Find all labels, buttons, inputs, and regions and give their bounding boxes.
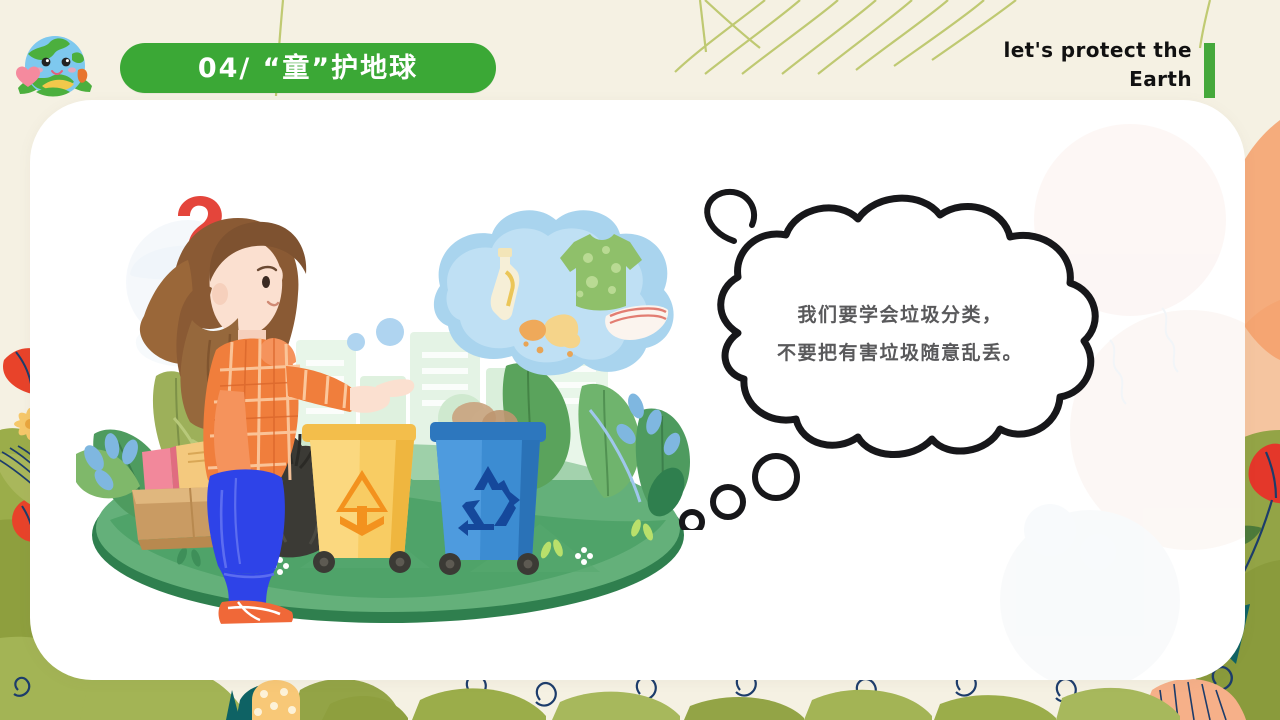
section-title-pill[interactable]: 04/ “童”护地球: [120, 43, 496, 93]
bubble-message: 我们要学会垃圾分类， 不要把有害垃圾随意乱丢。: [740, 296, 1060, 372]
bubble-line-1: 我们要学会垃圾分类，: [740, 296, 1060, 334]
blue-recycle-bin: [430, 422, 546, 575]
thought-dots: [347, 318, 404, 351]
thought-cloud-icon: [434, 210, 674, 375]
slide-canvas: 04/ “童”护地球 let's protect the Earth: [0, 0, 1280, 720]
girl-sorting-trash-illustration: [70, 190, 690, 630]
subtitle-line-2: Earth: [862, 65, 1192, 94]
subtitle-accent-bar: [1204, 43, 1215, 98]
bubble-trail-circles: [682, 456, 797, 530]
earth-mascot-icon: [12, 26, 98, 110]
bubble-line-2: 不要把有害垃圾随意乱丢。: [740, 334, 1060, 372]
subtitle-en: let's protect the Earth: [862, 36, 1192, 94]
bubble-curl: [707, 192, 754, 241]
subtitle-line-1: let's protect the: [862, 36, 1192, 65]
section-title-text: 04/ “童”护地球: [198, 55, 418, 82]
